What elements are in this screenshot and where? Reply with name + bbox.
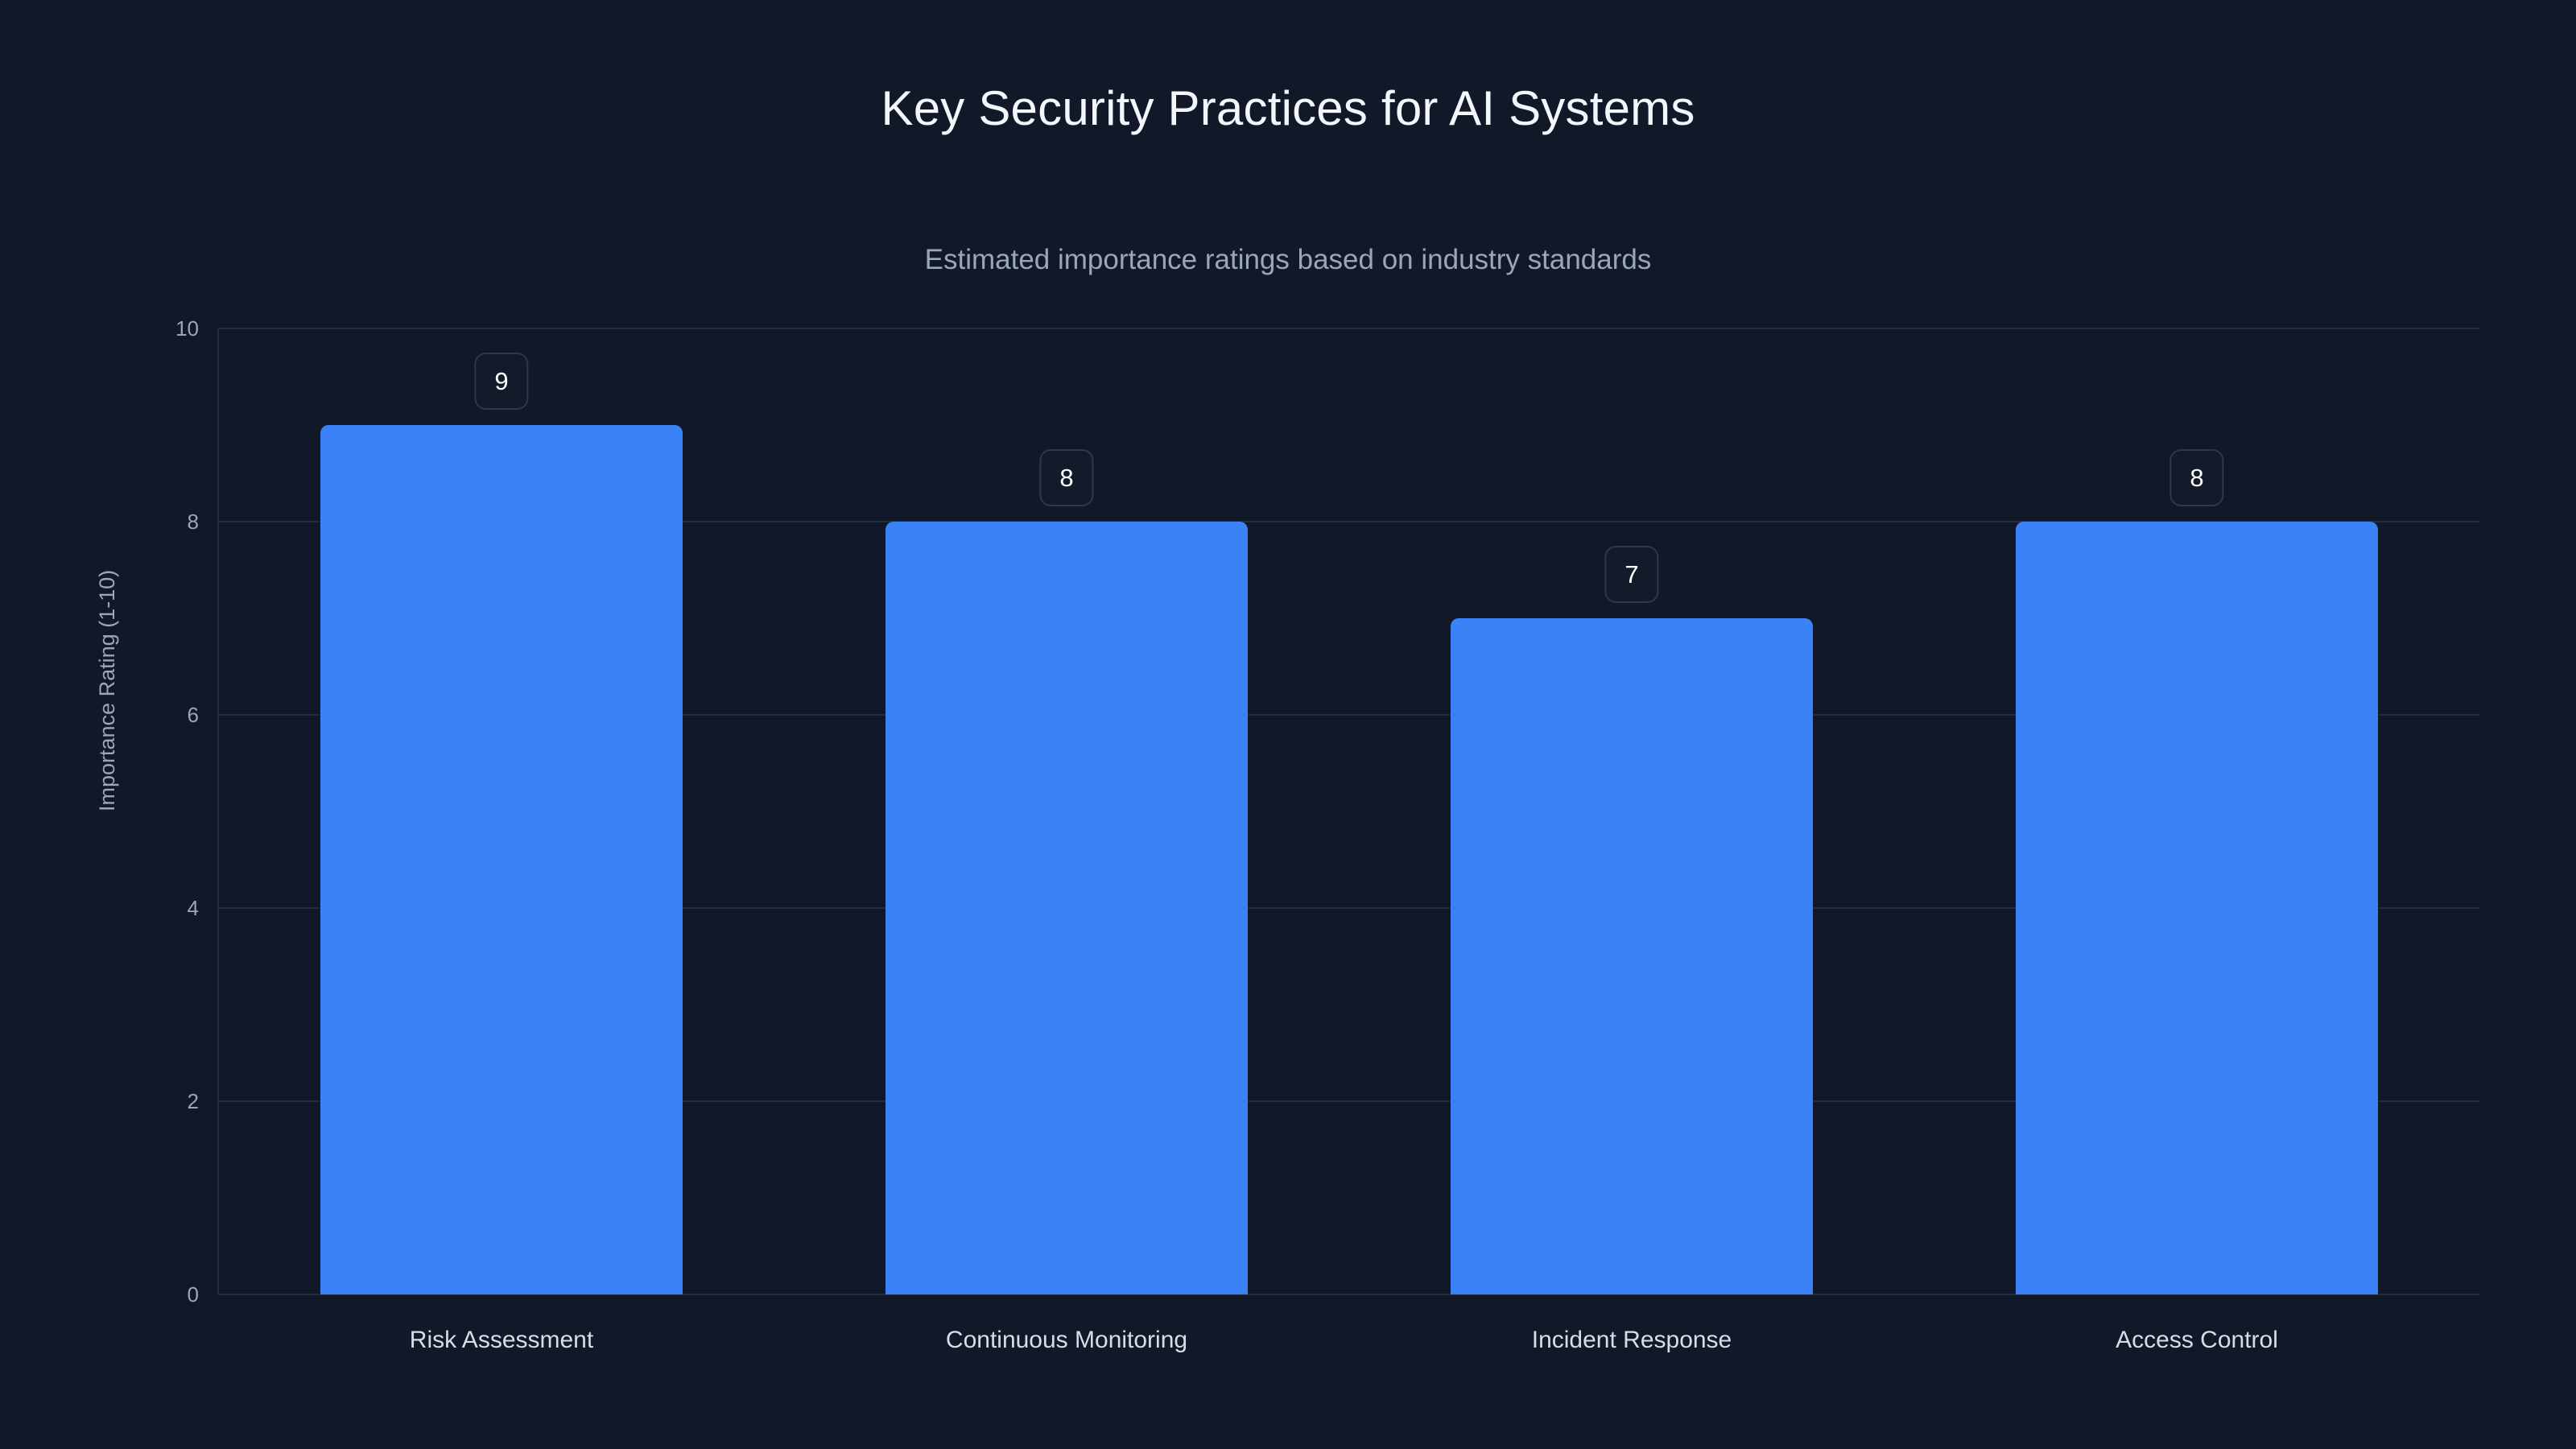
chart-subtitle: Estimated importance ratings based on in… [0,246,2576,274]
y-tick-label: 8 [142,511,199,532]
chart-title: Key Security Practices for AI Systems [0,85,2576,133]
y-axis-title: Importance Rating (1-10) [97,570,118,811]
bar[interactable] [885,522,1248,1294]
bar-value-badge: 9 [474,353,528,410]
bar-value-badge: 8 [2169,449,2223,506]
y-tick-label: 10 [142,318,199,339]
bar[interactable] [320,425,683,1294]
y-tick-label: 0 [142,1284,199,1305]
bar-value-badge: 7 [1604,546,1658,603]
y-tick-label: 2 [142,1091,199,1112]
x-tick-label: Access Control [2116,1328,2278,1352]
bar-chart-figure: Key Security Practices for AI Systems Es… [0,0,2576,1449]
bar[interactable] [1451,618,1813,1294]
bar[interactable] [2016,522,2378,1294]
gridline [219,328,2479,329]
plot-area [219,328,2479,1294]
x-tick-label: Incident Response [1532,1328,1732,1352]
y-axis-line [217,328,219,1294]
y-tick-label: 6 [142,704,199,725]
bar-value-badge: 8 [1039,449,1093,506]
x-tick-label: Risk Assessment [410,1328,593,1352]
x-tick-label: Continuous Monitoring [946,1328,1187,1352]
y-tick-label: 4 [142,898,199,919]
